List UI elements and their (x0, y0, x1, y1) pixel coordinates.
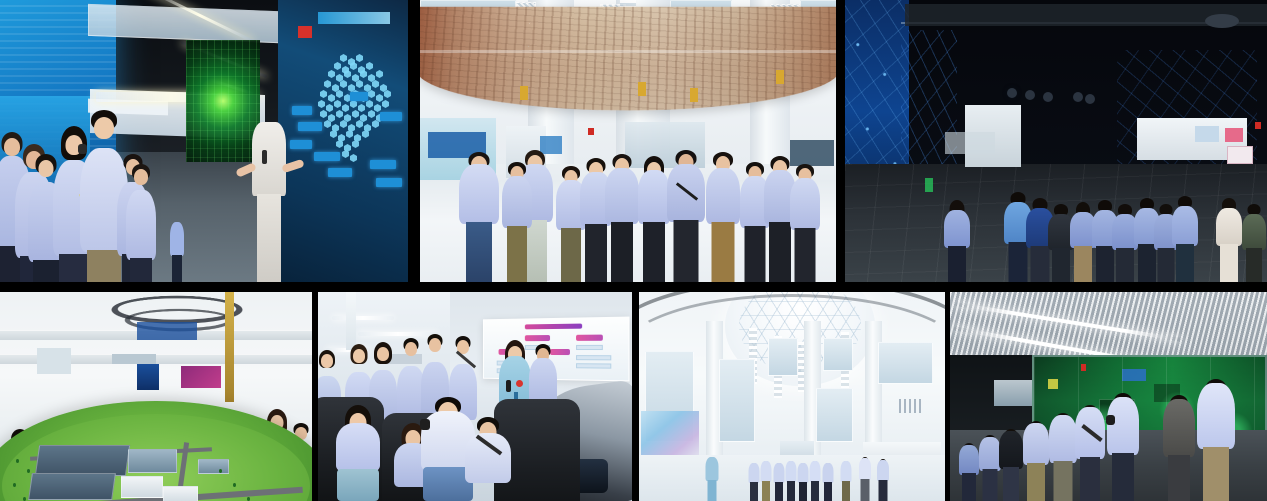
spotlight-2 (1025, 90, 1035, 100)
photo-3-visitor-11 (1243, 204, 1265, 282)
purple-display-screen (181, 366, 221, 388)
photo-6-visitor-4 (786, 461, 796, 501)
photo-3-visitor-1 (945, 200, 969, 282)
far-display-screen (994, 380, 1032, 406)
wall-sign (790, 140, 834, 166)
photo-3-guide (1217, 198, 1241, 282)
photo-3-visitor-10 (1173, 196, 1197, 282)
atrium-window-4 (823, 338, 854, 371)
screen-accent-block (298, 26, 312, 38)
map-label-9 (350, 92, 368, 101)
photo-6-visitor-3 (774, 463, 784, 501)
atrium-window-5 (878, 342, 933, 384)
screen-chip-2 (576, 335, 603, 341)
headset (420, 419, 430, 430)
map-label-3 (290, 140, 312, 149)
far-exhibit-case (945, 132, 995, 154)
wall-poster (1227, 146, 1253, 164)
photo-2-visitor-9 (706, 152, 740, 282)
map-label-4 (314, 152, 340, 161)
map-label-2 (298, 122, 322, 131)
photo-6-visitor-9 (859, 457, 870, 501)
lab-exit-light (1081, 364, 1086, 371)
photo-6-lobby-atrium-dome[interactable] (639, 292, 945, 501)
photo-6-visitor-6 (810, 461, 820, 501)
photo-collage (0, 0, 1267, 501)
photo-6-visitor-8 (841, 461, 851, 501)
photo-2-visitor-6 (606, 154, 638, 282)
headset (1106, 415, 1115, 425)
wall-text-band (112, 354, 156, 364)
reception-logo (899, 399, 923, 413)
photo-7-visitor-9 (1198, 379, 1234, 501)
atrium-window-3 (768, 338, 799, 376)
exhibit-graphic-1 (1195, 126, 1219, 142)
mural-label-3 (690, 88, 698, 102)
photo-5-seated-4 (466, 417, 510, 501)
photo-4-industrial-park-model[interactable] (0, 292, 312, 501)
wall-column (346, 292, 356, 350)
blue-display-screen (137, 364, 159, 390)
photo-6-visitor-10 (878, 459, 889, 501)
green-chip-animation (186, 40, 260, 162)
model-building-4 (121, 476, 163, 498)
person-distant-1 (170, 222, 184, 282)
hexagonal-china-map (288, 48, 406, 208)
map-label-5 (328, 168, 352, 177)
photo-7-visitor-1 (960, 443, 978, 501)
spotlight-4 (1073, 92, 1083, 102)
visitor-7 (126, 164, 156, 282)
spotlight-1 (1007, 88, 1017, 98)
photo-5-seated-1 (336, 405, 380, 501)
model-factory-1 (35, 445, 130, 476)
exhibit-graphic-2 (1225, 128, 1243, 142)
model-building-6 (198, 459, 229, 474)
wall-panel-left (37, 348, 71, 374)
photo-6-visitor-7 (823, 463, 833, 501)
screen-title-bar (318, 12, 390, 24)
map-label-7 (376, 178, 402, 187)
presenter (252, 122, 286, 282)
map-label-6 (370, 160, 396, 169)
photo-7-visitor-6 (1076, 405, 1104, 501)
spotlight-5 (1085, 94, 1095, 104)
presenter-remote (506, 380, 511, 392)
photo-2-visitor-1 (460, 152, 498, 282)
screen-title (525, 324, 582, 330)
spotlight-6 (1205, 14, 1239, 28)
photo-6-guide (706, 457, 718, 501)
badge (516, 380, 523, 387)
exit-indicator (588, 128, 594, 135)
exit-sign (1255, 122, 1261, 129)
photo-6-visitor-5 (798, 463, 808, 501)
microphone (262, 150, 267, 164)
model-factory-3 (128, 449, 177, 473)
mural-label-4 (776, 70, 784, 84)
mural-label-2 (638, 82, 646, 96)
photo-7-visitor-3 (1000, 429, 1022, 501)
model-factory-2 (28, 473, 116, 500)
lab-indicator-yellow (1048, 379, 1058, 389)
photo-7-visitor-2 (980, 435, 1000, 501)
photo-7-visitor-7 (1108, 393, 1138, 501)
photo-7-visitor-8 (1164, 395, 1194, 501)
photo-2-visitor-3 (502, 162, 532, 282)
lab-screen-blue (1122, 369, 1146, 381)
curved-scroll-mural (420, 7, 836, 111)
photo-7-visitor-5 (1050, 413, 1076, 501)
model-building-5 (163, 486, 198, 501)
photo-2-visitor-7 (638, 156, 670, 282)
map-label-1 (292, 106, 312, 115)
map-label-8 (380, 112, 402, 121)
atrium-window-6 (816, 388, 853, 442)
photo-2-visitor-8 (668, 150, 704, 282)
floor-marker-green (925, 178, 933, 192)
photo-6-visitor-2 (761, 461, 771, 501)
photo-2-atrium-scroll-mural[interactable] (420, 0, 836, 282)
mural-label-1 (520, 86, 528, 100)
photo-3-dark-immersive-gallery[interactable] (845, 0, 1267, 282)
photo-2-visitor-12 (790, 164, 820, 282)
headset (78, 144, 87, 154)
photo-7-production-viewing-corridor[interactable] (950, 292, 1267, 501)
photo-6-visitor-1 (749, 463, 759, 501)
photo-7-visitor-4 (1024, 421, 1048, 501)
overhead-led-band (137, 322, 197, 340)
spotlight-3 (1043, 92, 1053, 102)
photo-5-simulator-room[interactable] (318, 292, 632, 501)
atrium-window-2 (719, 359, 756, 443)
photo-1-digital-exhibition-hall[interactable] (0, 0, 408, 282)
gold-column (225, 292, 234, 402)
wall-light-strip-1 (332, 316, 394, 320)
